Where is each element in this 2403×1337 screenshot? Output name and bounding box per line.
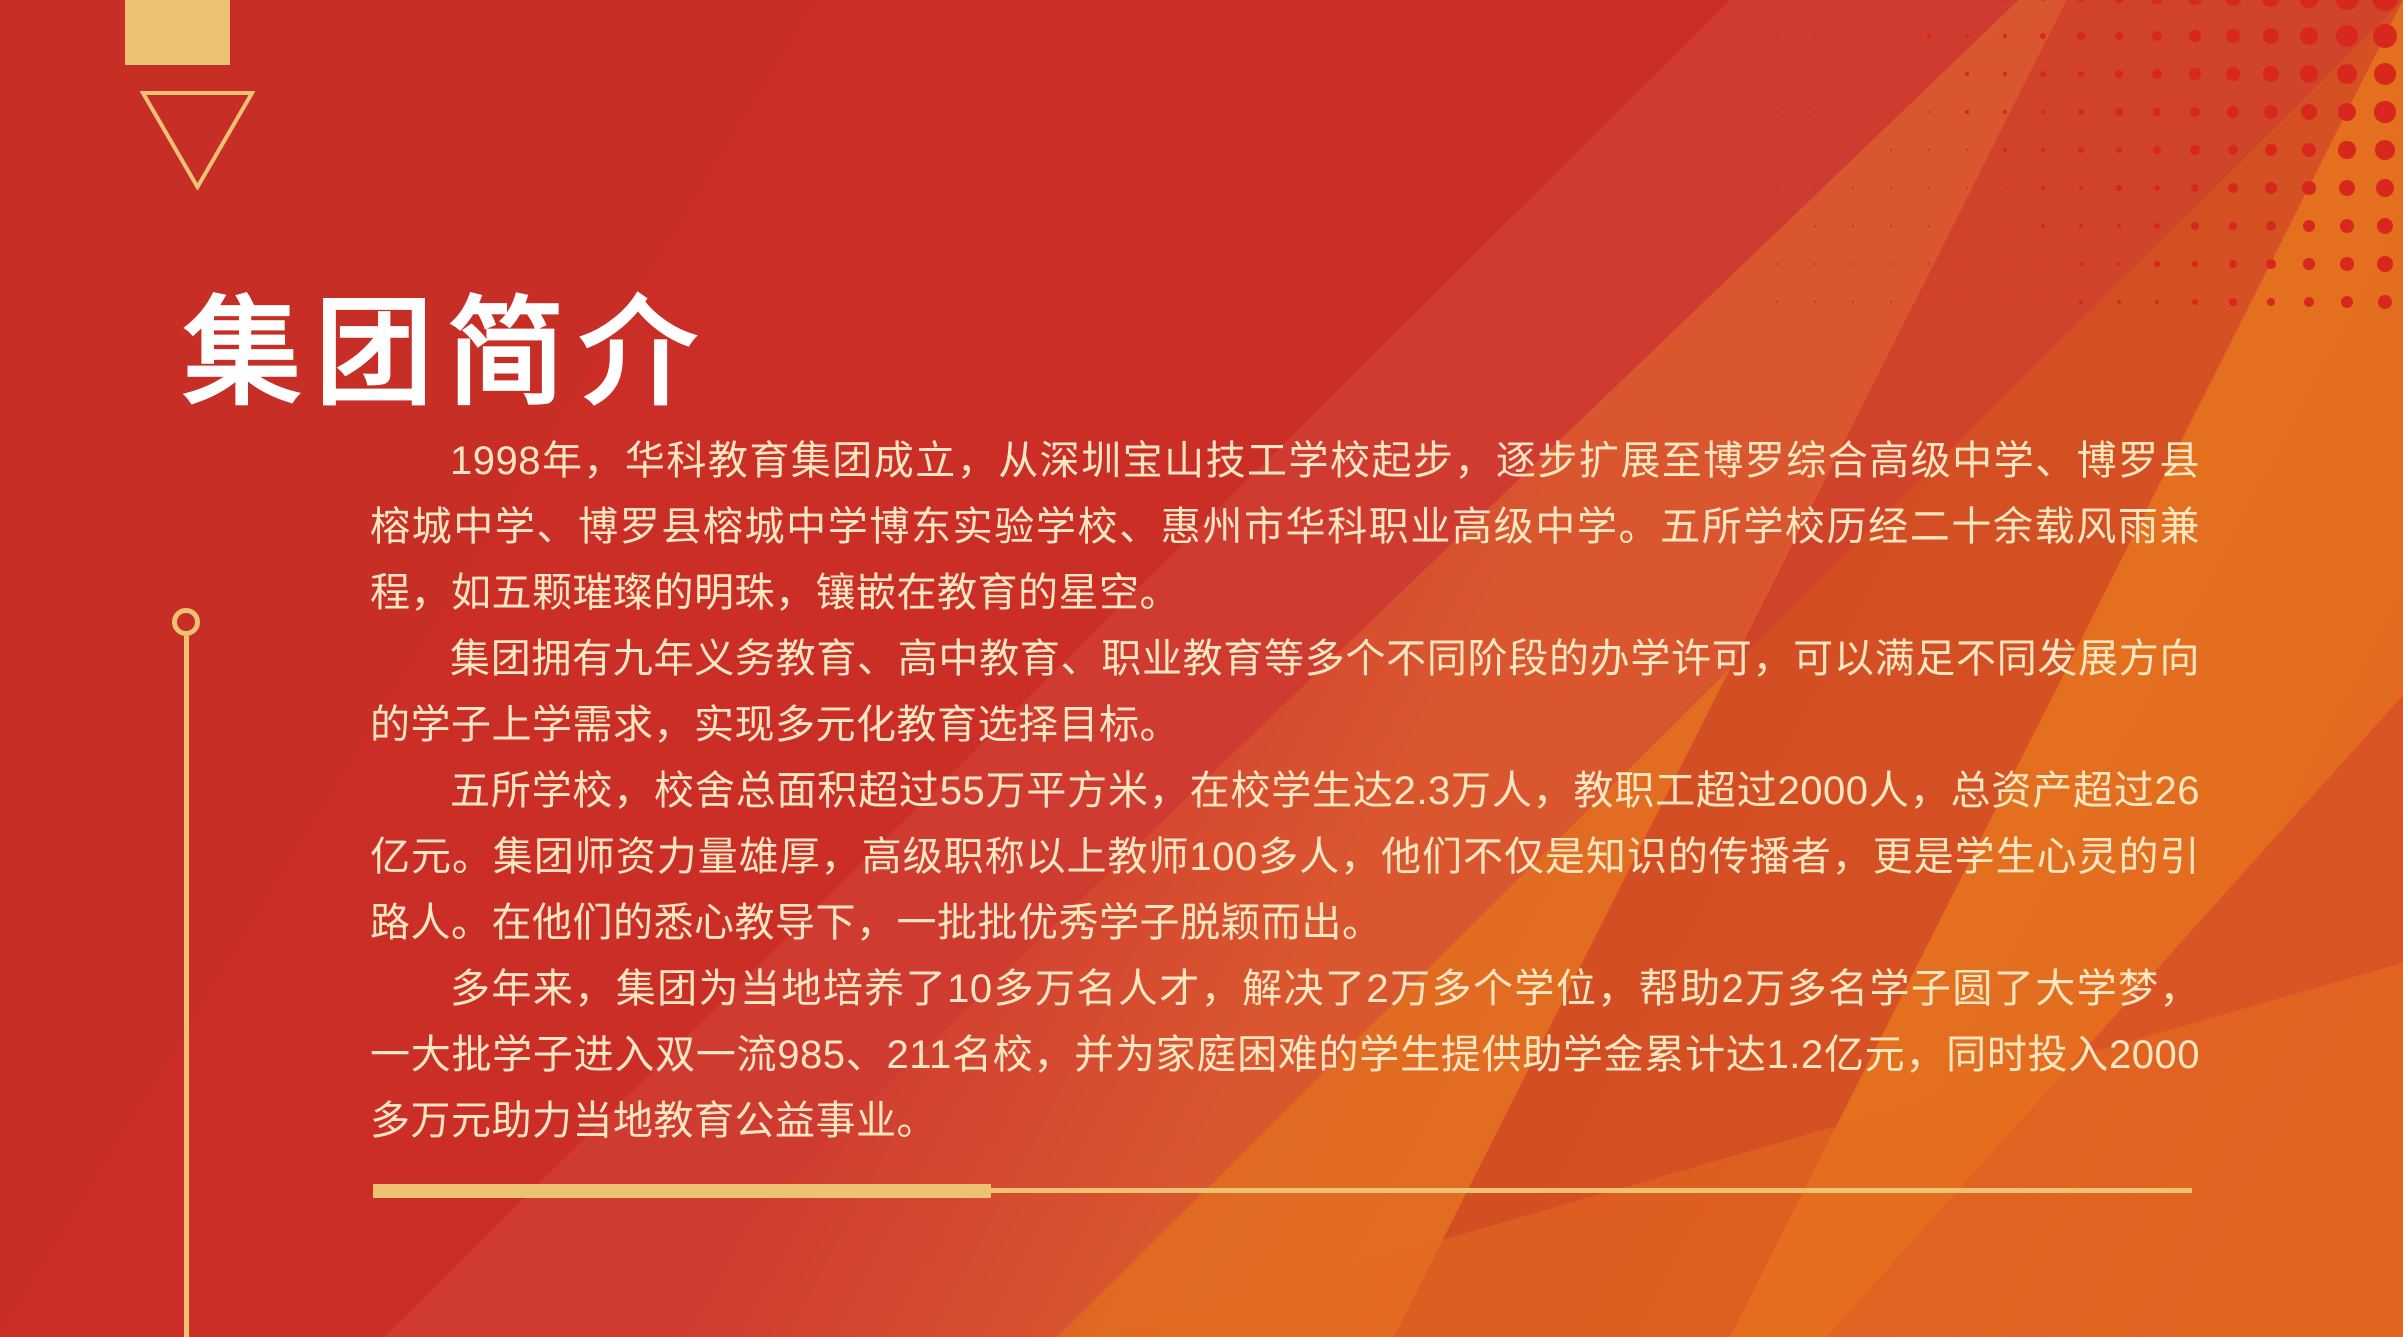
halftone-dot [2115, 108, 2122, 115]
halftone-dot [2004, 187, 2007, 190]
halftone-dot [2040, 71, 2045, 76]
halftone-dot [1776, 35, 1778, 37]
halftone-dot [2040, 0, 2047, 1]
halftone-dot [2190, 107, 2200, 117]
halftone-dot [2003, 72, 2007, 76]
halftone-dot [1852, 225, 1854, 227]
halftone-dot [2117, 300, 2121, 304]
halftone-dot [2154, 185, 2161, 192]
halftone-dot [1776, 111, 1778, 113]
halftone-dot [2191, 184, 2199, 192]
halftone-dot [1966, 225, 1968, 227]
halftone-dot [2229, 298, 2236, 305]
halftone-dot [2262, 0, 2280, 7]
halftone-dot [1890, 35, 1893, 38]
halftone-dot [1890, 111, 1892, 113]
halftone-dot [2338, 141, 2355, 158]
halftone-dot [2003, 148, 2006, 151]
halftone-dot [2115, 70, 2123, 78]
halftone-dot [2299, 0, 2319, 8]
halftone-dot [2304, 297, 2314, 307]
halftone-dot [2152, 69, 2161, 78]
halftone-dot [2188, 0, 2201, 5]
halftone-dot [1928, 301, 1930, 303]
halftone-dot [1966, 263, 1968, 265]
halftone-dot [2302, 181, 2316, 195]
halftone-dot [2373, 24, 2397, 48]
halftone-dot [2189, 30, 2201, 42]
halftone-dot [2116, 185, 2122, 191]
halftone-dot [2004, 263, 2006, 265]
halftone-dot [2042, 301, 2045, 304]
halftone-dot [2266, 221, 2277, 232]
halftone-dot [1965, 72, 1968, 75]
paragraph-4: 多年来，集团为当地培养了10多万名人才，解决了2万多个学位，帮助2万多名学子圆了… [370, 956, 2200, 1154]
halftone-dot [2225, 0, 2241, 6]
halftone-dot [1814, 225, 1816, 227]
halftone-dot [1814, 149, 1816, 151]
halftone-dot [2041, 224, 2044, 227]
halftone-dot [1890, 149, 1892, 151]
halftone-dot [1852, 187, 1854, 189]
halftone-dot [2152, 31, 2162, 41]
halftone-dot [2079, 186, 2084, 191]
halftone-dot [2265, 144, 2278, 157]
page-title: 集团简介 [183, 291, 711, 418]
halftone-dot [2228, 145, 2239, 156]
halftone-dot [2265, 182, 2277, 194]
halftone-dot [2229, 222, 2238, 231]
halftone-dot [2004, 225, 2007, 228]
halftone-dot [2374, 101, 2395, 122]
halftone-dot [2335, 0, 2358, 10]
halftone-dot [1928, 149, 1930, 151]
halftone-dot [2375, 140, 2395, 160]
halftone-dot [1928, 263, 1930, 265]
halftone-dot [2378, 295, 2392, 309]
halftone-dot [2228, 183, 2238, 193]
halftone-dot [1776, 225, 1778, 227]
halftone-dot [2078, 147, 2083, 152]
halftone-dot [2229, 260, 2237, 268]
halftone-dot [1814, 35, 1816, 37]
halftone-dot [2192, 299, 2198, 305]
halftone-dot [2042, 263, 2045, 266]
halftone-dot [1890, 263, 1892, 265]
halftone-dot [2115, 32, 2124, 41]
halftone-dot [1852, 301, 1854, 303]
halftone-dot [2303, 258, 2315, 270]
halftone-dot [2189, 68, 2200, 79]
gold-divider-thick [373, 1184, 991, 1198]
halftone-dot [2117, 262, 2121, 266]
gold-rectangle-decor [125, 0, 230, 65]
gold-divider-thin [991, 1188, 2192, 1193]
halftone-dot [1966, 301, 1968, 303]
halftone-dot [1814, 187, 1816, 189]
halftone-dot [2004, 301, 2006, 303]
halftone-dot [2336, 25, 2358, 47]
halftone-dot [1966, 187, 1968, 189]
halftone-dot [1776, 73, 1778, 75]
halftone-dot [2303, 220, 2316, 233]
paragraph-2: 集团拥有九年义务教育、高中教育、职业教育等多个不同阶段的办学许可，可以满足不同发… [370, 626, 2200, 758]
halftone-dot [1890, 301, 1892, 303]
halftone-dot [2002, 0, 2007, 1]
halftone-dot [2302, 143, 2317, 158]
halftone-dot [2266, 259, 2276, 269]
halftone-dot [1852, 73, 1854, 75]
halftone-dot [2339, 180, 2355, 196]
halftone-dot [2003, 34, 2008, 39]
halftone-dot [2041, 148, 2045, 152]
halftone-dot [1928, 187, 1930, 189]
halftone-dot [1776, 149, 1778, 151]
paragraph-3: 五所学校，校舍总面积超过55万平方米，在校学生达2.3万人，教职工超过2000人… [370, 758, 2200, 956]
halftone-dot [2153, 108, 2161, 116]
halftone-dot [1965, 34, 1969, 38]
gold-vertical-line-decor [184, 636, 189, 1337]
halftone-dot [2300, 65, 2318, 83]
halftone-dot [2226, 29, 2240, 43]
halftone-dot [2114, 0, 2124, 3]
halftone-dot [2154, 261, 2159, 266]
halftone-dot [1966, 149, 1969, 152]
slide-canvas: 集团简介 1998年，华科教育集团成立，从深圳宝山技工学校起步，逐步扩展至博罗综… [0, 0, 2403, 1337]
halftone-dot [2267, 298, 2276, 307]
gold-circle-decor [172, 608, 200, 636]
halftone-dot [1814, 111, 1816, 113]
halftone-dot [1852, 149, 1854, 151]
halftone-dot [2117, 224, 2122, 229]
halftone-dot [1928, 73, 1931, 76]
halftone-dot [2155, 300, 2160, 305]
halftone-dot [2153, 146, 2161, 154]
halftone-dot [2191, 222, 2198, 229]
body-content: 1998年，华科教育集团成立，从深圳宝山技工学校起步，逐步扩展至博罗综合高级中学… [370, 428, 2200, 1154]
halftone-dot [2154, 223, 2160, 229]
halftone-dot [2078, 109, 2084, 115]
halftone-dot [1928, 225, 1930, 227]
halftone-dot [2226, 67, 2239, 80]
halftone-dot [2190, 145, 2199, 154]
halftone-dot [1890, 73, 1892, 75]
halftone-dot [2151, 0, 2162, 4]
halftone-dot [1852, 111, 1854, 113]
halftone-dot [1814, 301, 1816, 303]
halftone-dot [2078, 71, 2084, 77]
halftone-dot [2077, 32, 2084, 39]
halftone-dot [2340, 257, 2354, 271]
halftone-dot [2301, 104, 2317, 120]
halftone-dot [1965, 110, 1968, 113]
halftone-dot [2372, 0, 2398, 11]
halftone-dot-pattern [1767, 0, 2403, 332]
halftone-dot [1890, 225, 1892, 227]
halftone-dot [2341, 296, 2353, 308]
halftone-dot [2077, 0, 2085, 2]
halftone-dot [1776, 301, 1778, 303]
halftone-dot [2374, 63, 2397, 86]
halftone-dot [2300, 27, 2319, 46]
halftone-dot [2041, 186, 2045, 190]
halftone-dot [2377, 256, 2393, 272]
halftone-dot [2041, 110, 2046, 115]
halftone-dot [1814, 263, 1816, 265]
halftone-dot [1852, 35, 1854, 37]
halftone-dot [2079, 224, 2083, 228]
halftone-dot [2192, 261, 2199, 268]
halftone-dot [1814, 73, 1816, 75]
halftone-dot [2340, 219, 2355, 234]
halftone-dot [1890, 187, 1892, 189]
halftone-dot [2003, 110, 2007, 114]
halftone-dot [2040, 33, 2046, 39]
halftone-dot [2079, 300, 2082, 303]
halftone-dot [2377, 218, 2394, 235]
halftone-dot [2116, 147, 2122, 153]
halftone-dot [2337, 64, 2357, 84]
halftone-dot [1852, 263, 1854, 265]
halftone-dot [2264, 105, 2278, 119]
halftone-dot [2376, 179, 2394, 197]
halftone-dot [1927, 34, 1930, 37]
halftone-dot [2263, 28, 2280, 45]
paragraph-1: 1998年，华科教育集团成立，从深圳宝山技工学校起步，逐步扩展至博罗综合高级中学… [370, 428, 2200, 626]
halftone-dot [2079, 262, 2083, 266]
halftone-dot [2263, 66, 2278, 81]
halftone-dot [2338, 103, 2357, 122]
gold-triangle-icon [140, 90, 255, 190]
halftone-dot [1776, 187, 1778, 189]
halftone-dot [2227, 106, 2239, 118]
halftone-dot [1928, 111, 1931, 114]
halftone-dot [1776, 263, 1778, 265]
